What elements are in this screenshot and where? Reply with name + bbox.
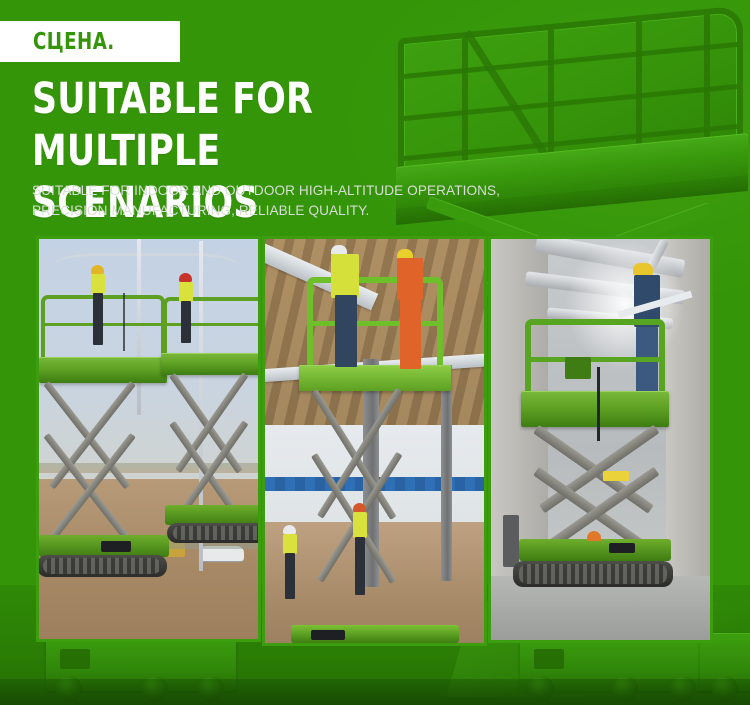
platform-control-console bbox=[565, 357, 591, 379]
steel-column bbox=[441, 365, 452, 581]
scenario-photo-2[interactable] bbox=[262, 236, 487, 646]
overhead-arch bbox=[53, 253, 238, 279]
lift-midrail bbox=[41, 323, 165, 326]
lift-platform-deck bbox=[521, 391, 669, 427]
cage-post bbox=[548, 30, 554, 169]
lift-platform-deck bbox=[299, 365, 451, 391]
warning-label bbox=[603, 471, 629, 481]
hard-hat-icon bbox=[353, 503, 366, 512]
scissor-arm-stack bbox=[539, 425, 655, 541]
section-label-badge: СЦЕНА. bbox=[0, 21, 180, 62]
lift-guardrail bbox=[41, 295, 165, 359]
hard-hat-icon bbox=[633, 263, 653, 275]
hydraulic-hose bbox=[123, 293, 125, 351]
scenario-photo-1[interactable] bbox=[36, 236, 261, 642]
hi-vis-vest bbox=[331, 254, 359, 298]
scissor-arm bbox=[317, 388, 402, 519]
scissor-arm-stack bbox=[175, 373, 258, 513]
lift-midrail bbox=[163, 323, 258, 326]
lift-midrail bbox=[525, 357, 665, 362]
hi-vis-vest bbox=[353, 512, 367, 538]
hard-hat-icon bbox=[91, 265, 104, 274]
lift-chassis bbox=[165, 505, 258, 525]
hi-vis-vest bbox=[397, 258, 423, 300]
section-label-text: СЦЕНА. bbox=[33, 29, 115, 55]
lift-midrail bbox=[307, 321, 443, 326]
photo-3-scene bbox=[491, 239, 710, 640]
worker-legs bbox=[285, 553, 295, 599]
hard-hat-icon bbox=[179, 273, 192, 282]
hard-hat-icon bbox=[283, 525, 296, 534]
worker-legs bbox=[93, 293, 103, 345]
subtitle-line-2: PRECISION MANUFACTURING, RELIABLE QUALIT… bbox=[32, 200, 614, 220]
crawler-track bbox=[513, 561, 673, 587]
machine-control-panel bbox=[60, 649, 90, 669]
cage-post bbox=[704, 15, 710, 154]
scenario-banner: СЦЕНА. SUITABLE FOR MULTIPLE SCENARIOS S… bbox=[0, 0, 750, 705]
beacon-light-icon bbox=[587, 531, 601, 541]
page-subtitle: SUITABLE FOR INDOOR AND OUTDOOR HIGH-ALT… bbox=[32, 180, 614, 220]
scenario-photo-3[interactable] bbox=[488, 236, 713, 643]
hi-vis-vest bbox=[179, 282, 193, 302]
hi-vis-vest bbox=[91, 274, 105, 294]
hi-vis-vest bbox=[283, 534, 297, 554]
crawler-track bbox=[39, 555, 167, 577]
scenario-photo-gallery bbox=[36, 236, 714, 646]
lift-platform-deck bbox=[39, 357, 167, 383]
lift-guardrail bbox=[163, 297, 258, 355]
worker-legs bbox=[335, 295, 357, 367]
worker-legs bbox=[181, 301, 191, 343]
background-floor bbox=[0, 679, 750, 705]
headline-line-1: SUITABLE FOR MULTIPLE bbox=[32, 73, 455, 177]
chassis-control-box bbox=[609, 543, 635, 553]
photo-2-scene bbox=[265, 239, 484, 643]
chassis-control-box bbox=[101, 541, 131, 552]
worker-legs bbox=[355, 537, 365, 595]
worker-legs bbox=[400, 297, 421, 369]
subtitle-line-1: SUITABLE FOR INDOOR AND OUTDOOR HIGH-ALT… bbox=[32, 180, 614, 200]
photo-1-scene bbox=[39, 239, 258, 639]
cage-post bbox=[636, 21, 642, 160]
chassis-control-box bbox=[311, 630, 345, 640]
crawler-track bbox=[167, 523, 258, 543]
lift-platform-deck bbox=[161, 353, 258, 375]
machine-control-panel bbox=[534, 649, 564, 669]
scissor-arm bbox=[175, 372, 248, 473]
scissor-arm-stack bbox=[317, 389, 437, 597]
side-mast bbox=[503, 515, 519, 567]
lift-chassis bbox=[519, 539, 671, 561]
cage-post bbox=[462, 38, 468, 177]
scissor-arm-stack bbox=[49, 381, 161, 533]
